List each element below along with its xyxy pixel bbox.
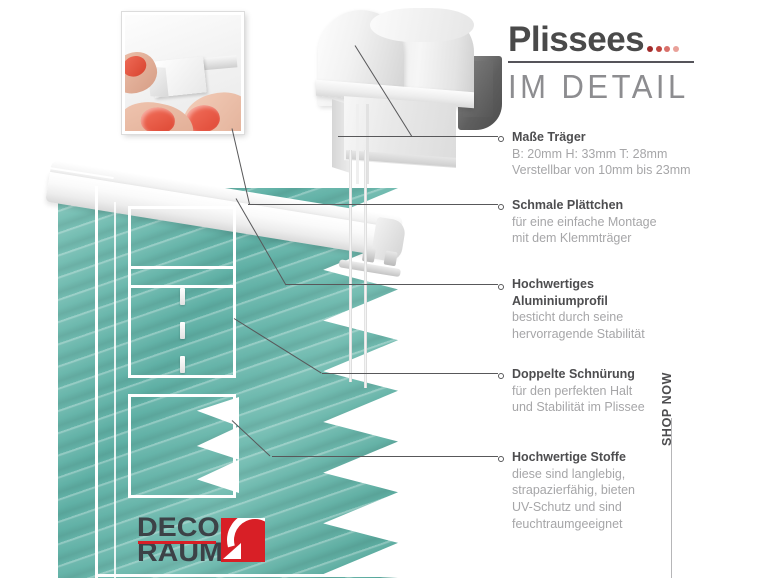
annotation-marker-1: [498, 136, 504, 142]
guide-line-vertical-inner: [114, 202, 116, 578]
annotation-5-line-3: UV-Schutz und sind: [512, 499, 712, 516]
annotation-1-line-2: Verstellbar von 10mm bis 23mm: [512, 162, 712, 179]
annotation-marker-2: [498, 204, 504, 210]
title-dot-2: [656, 46, 662, 52]
annotation-4: Doppelte Schnürung für den perfekten Hal…: [512, 366, 712, 416]
annotation-leader-4: [322, 373, 498, 374]
title-dot-3: [664, 46, 670, 52]
annotation-1-line-1: B: 20mm H: 33mm T: 28mm: [512, 146, 712, 163]
page-title: Plissees: [508, 22, 698, 57]
annotation-5-line-1: diese sind langlebig,: [512, 466, 712, 483]
annotation-3-title-2: Aluminiumprofil: [512, 293, 712, 310]
annotation-4-title: Doppelte Schnürung: [512, 366, 712, 383]
detail-cord-3: [180, 356, 185, 373]
logo-red-bar: [138, 541, 216, 544]
annotation-5-line-4: feuchtraumgeeignet: [512, 516, 712, 533]
title-dot-1: [647, 46, 653, 52]
annotation-3-line-2: hervorragende Stabilität: [512, 326, 712, 343]
annotation-2-line-2: mit dem Klemmträger: [512, 230, 712, 247]
guide-line-horizontal: [95, 574, 397, 577]
cord-left: [349, 150, 352, 382]
title-dots-ornament: [647, 46, 679, 52]
annotation-marker-3: [498, 284, 504, 290]
page-subtitle: IM DETAIL: [508, 68, 698, 107]
infographic-canvas: Plissees IM DETAIL: [0, 0, 770, 578]
annotation-leader-5: [272, 456, 498, 457]
detail-cord-2: [180, 322, 185, 339]
annotation-1: Maße Träger B: 20mm H: 33mm T: 28mm Vers…: [512, 129, 712, 179]
annotation-5-line-2: strapazierfähig, bieten: [512, 482, 712, 499]
annotation-leader-3: [286, 284, 498, 285]
annotation-4-line-2: und Stabilität im Plissee: [512, 399, 712, 416]
annotation-4-line-1: für den perfekten Halt: [512, 383, 712, 400]
logo-red-mark-icon: [221, 518, 265, 562]
annotation-5: Hochwertige Stoffe diese sind langlebig,…: [512, 449, 712, 533]
annotation-1-title: Maße Träger: [512, 129, 712, 146]
annotation-2-title: Schmale Plättchen: [512, 197, 712, 214]
cord-right: [364, 150, 367, 388]
photo-nail-bottom: [140, 107, 175, 134]
annotation-leader-2: [248, 204, 498, 205]
detail-cord-1: [180, 288, 185, 305]
header-block: Plissees IM DETAIL: [508, 22, 698, 104]
detail-box-pleat-edge: [128, 394, 236, 498]
annotation-marker-4: [498, 373, 504, 379]
annotation-2-line-1: für eine einfache Montage: [512, 214, 712, 231]
bracket-top-curve: [370, 8, 474, 42]
guide-line-vertical-outer: [95, 186, 98, 578]
page-title-text: Plissees: [508, 22, 644, 57]
brand-logo[interactable]: DECO RAUM: [137, 512, 267, 568]
rail-clip-b: [384, 251, 398, 267]
title-dot-4: [673, 46, 679, 52]
title-divider: [508, 61, 694, 63]
annotation-5-title: Hochwertige Stoffe: [512, 449, 712, 466]
annotation-3: Hochwertiges Aluminiumprofil besticht du…: [512, 276, 712, 343]
shop-now-button[interactable]: SHOP NOW: [660, 372, 674, 446]
logo-wordmark: DECO RAUM: [137, 515, 218, 565]
photo-nail-thumb: [122, 53, 149, 81]
annotation-marker-5: [498, 456, 504, 462]
annotation-2: Schmale Plättchen für eine einfache Mont…: [512, 197, 712, 247]
annotation-leader-1: [338, 136, 498, 137]
montage-photo: [122, 12, 244, 134]
annotation-3-line-1: besticht durch seine: [512, 309, 712, 326]
annotation-3-title: Hochwertiges: [512, 276, 712, 293]
